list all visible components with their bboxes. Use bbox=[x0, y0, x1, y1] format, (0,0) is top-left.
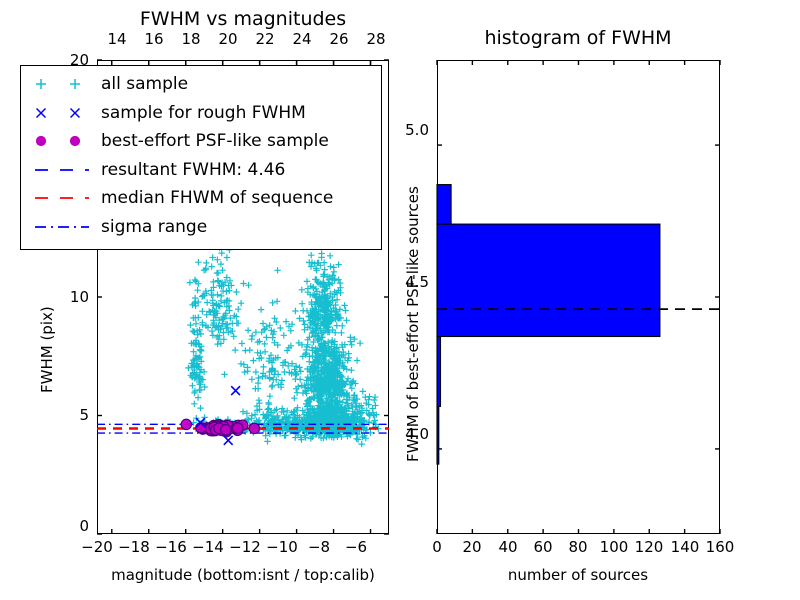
histogram-bar bbox=[437, 224, 660, 336]
legend-symbol-dashed-line-icon bbox=[27, 156, 101, 185]
legend-entry: median FHWM of sequence bbox=[27, 184, 381, 213]
legend-label: resultant FWHM: 4.46 bbox=[101, 160, 285, 180]
legend-symbol-plus-icon bbox=[27, 70, 101, 99]
legend-entry: best-effort PSF-like sample bbox=[27, 127, 381, 156]
figure-canvas: FWHM vs magnitudes magnitude (bottom:isn… bbox=[0, 0, 800, 600]
legend-label: sigma range bbox=[101, 217, 207, 237]
scatter-all-sample bbox=[185, 232, 381, 447]
histogram-bars bbox=[437, 185, 660, 465]
histogram-bar bbox=[437, 406, 439, 464]
legend-symbol-dashed-line-icon bbox=[27, 184, 101, 213]
legend-symbol-cross-icon bbox=[27, 99, 101, 128]
legend-entry: sample for rough FWHM bbox=[27, 99, 381, 128]
legend-entry: sigma range bbox=[27, 213, 381, 242]
histogram-bar bbox=[437, 337, 441, 407]
legend-label: best-effort PSF-like sample bbox=[101, 131, 329, 151]
legend-symbol-dashdot-line-icon bbox=[27, 213, 101, 242]
plot-legend: all samplesample for rough FWHMbest-effo… bbox=[20, 65, 382, 250]
legend-entry: resultant FWHM: 4.46 bbox=[27, 156, 381, 185]
legend-label: median FHWM of sequence bbox=[101, 188, 333, 208]
legend-label: all sample bbox=[101, 74, 188, 94]
legend-label: sample for rough FWHM bbox=[101, 103, 306, 123]
histogram-graphics bbox=[437, 60, 720, 534]
histogram-bar bbox=[437, 185, 451, 225]
legend-symbol-circle-icon bbox=[27, 127, 101, 156]
scatter-rough-sample bbox=[196, 386, 240, 445]
legend-entry: all sample bbox=[27, 70, 381, 99]
